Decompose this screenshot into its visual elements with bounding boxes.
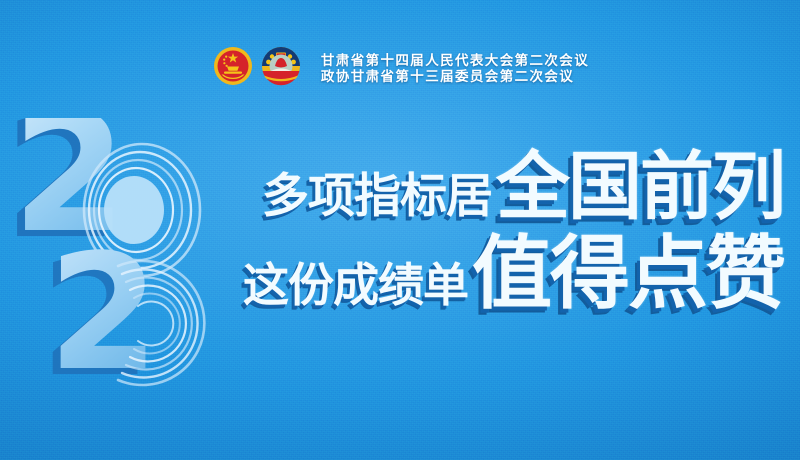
headline-line2-small: 这份成绩单	[243, 262, 468, 308]
headline-block: 多项指标居 全国前列 这份成绩单 值得点赞	[0, 150, 800, 314]
cppcc-emblem-icon	[259, 44, 303, 93]
headline-row-2: 这份成绩单 值得点赞	[243, 234, 784, 314]
headline-line1-small: 多项指标居	[262, 173, 492, 220]
headline-line1-big: 全国前列	[496, 150, 784, 224]
header: 甘肃省第十四届人民代表大会第二次会议 政协甘肃省第十三届委员会第二次会议	[0, 44, 800, 93]
header-text-block: 甘肃省第十四届人民代表大会第二次会议 政协甘肃省第十三届委员会第二次会议	[321, 54, 589, 84]
banner-poster: 2 2 2 2	[0, 0, 800, 460]
header-line-cppcc: 政协甘肃省第十三届委员会第二次会议	[321, 70, 589, 84]
header-line-npc: 甘肃省第十四届人民代表大会第二次会议	[321, 54, 589, 68]
headline-row-1: 多项指标居 全国前列	[262, 150, 784, 224]
emblem-group	[211, 44, 303, 93]
national-emblem-of-china-icon	[211, 44, 255, 93]
headline-line2-big: 值得点赞	[472, 234, 784, 314]
